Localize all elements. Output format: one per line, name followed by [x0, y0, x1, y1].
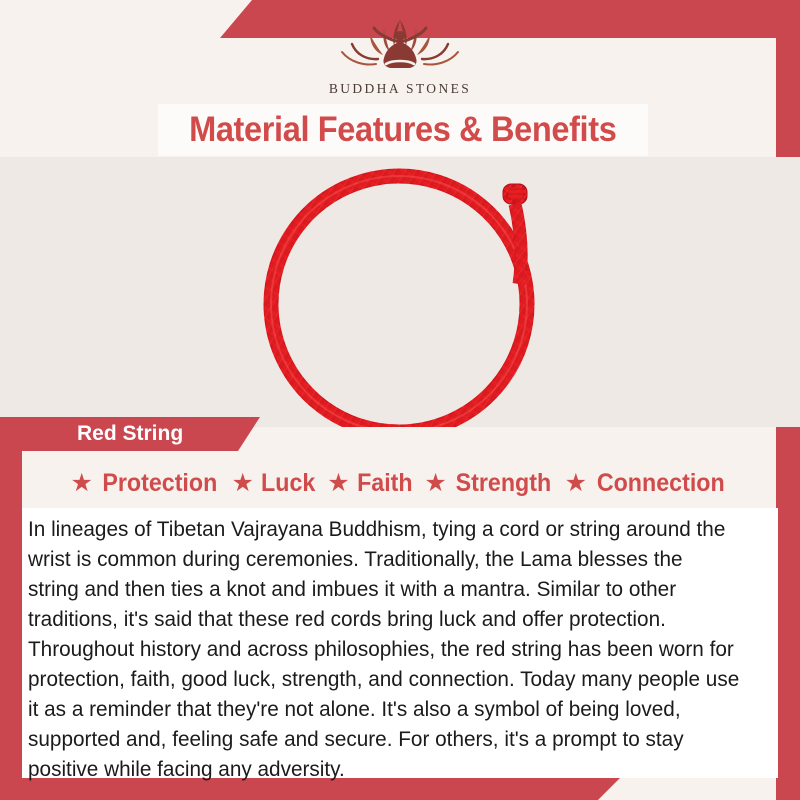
- body-line: Throughout history and across philosophi…: [28, 634, 740, 664]
- feature-label-faith: Faith: [357, 469, 413, 498]
- product-label: Red String: [77, 422, 183, 446]
- infographic-page: BUDDHA STONES Material Features & Benefi…: [0, 0, 800, 800]
- body-line: string and then ties a knot and imbues i…: [28, 574, 740, 604]
- features-row: ★ Protection ★ Luck ★ Faith ★ Strength ★…: [22, 463, 778, 503]
- feature-item: ★ Protection: [70, 469, 221, 498]
- page-title: Material Features & Benefits: [189, 110, 616, 150]
- red-braided-string-bracelet-image: [247, 157, 577, 427]
- feature-item: ★ Luck: [232, 469, 318, 498]
- feature-label-protection: Protection: [102, 469, 217, 498]
- feature-label-luck: Luck: [261, 469, 315, 498]
- body-line: protection, faith, good luck, strength, …: [28, 664, 740, 694]
- brand-wordmark: BUDDHA STONES: [329, 81, 471, 97]
- star-icon: ★: [327, 471, 349, 496]
- body-line: positive while facing any adversity.: [28, 754, 740, 784]
- title-banner: Material Features & Benefits: [158, 104, 648, 156]
- body-line: supported and, feeling safe and secure. …: [28, 724, 740, 754]
- product-label-banner: Red String: [22, 417, 260, 451]
- feature-label-connection: Connection: [597, 469, 725, 498]
- description-text-block: In lineages of Tibetan Vajrayana Buddhis…: [22, 508, 778, 778]
- body-line: traditions, it's said that these red cor…: [28, 604, 740, 634]
- star-icon: ★: [70, 471, 92, 496]
- label-banner-strip: [0, 417, 22, 451]
- star-icon: ★: [424, 471, 446, 496]
- product-image-panel: [0, 157, 800, 427]
- feature-item: ★ Strength: [424, 469, 554, 498]
- star-icon: ★: [565, 471, 587, 496]
- feature-item: ★ Faith: [327, 469, 414, 498]
- body-line: it as a reminder that they're not alone.…: [28, 694, 740, 724]
- feature-item: ★ Connection: [565, 469, 730, 498]
- star-icon: ★: [232, 471, 254, 496]
- body-line: In lineages of Tibetan Vajrayana Buddhis…: [28, 514, 740, 544]
- body-line: wrist is common during ceremonies. Tradi…: [28, 544, 740, 574]
- lotus-meditation-icon: [334, 14, 466, 78]
- feature-label-strength: Strength: [455, 469, 551, 498]
- brand-logo: BUDDHA STONES: [0, 14, 800, 97]
